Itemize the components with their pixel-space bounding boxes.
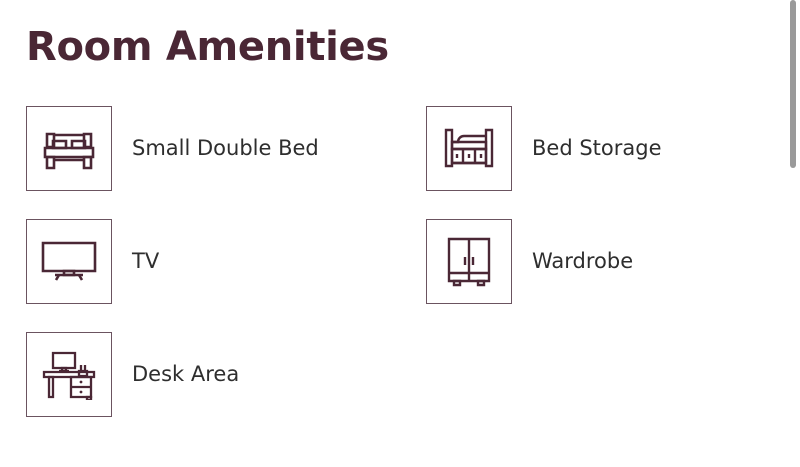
amenity-item-bed-storage[interactable]: Bed Storage (426, 92, 800, 205)
amenity-icon-box (26, 219, 112, 304)
page-title: Room Amenities (26, 26, 800, 68)
amenities-grid: Small Double Bed (26, 92, 786, 431)
vertical-scrollbar[interactable] (786, 0, 800, 467)
desk-icon (41, 350, 97, 400)
amenity-item-tv[interactable]: TV (26, 205, 426, 318)
amenity-label: Desk Area (132, 362, 239, 387)
wardrobe-icon (445, 236, 493, 288)
amenity-label: Small Double Bed (132, 136, 319, 161)
amenity-item-wardrobe[interactable]: Wardrobe (426, 205, 800, 318)
amenity-label: Wardrobe (532, 249, 633, 274)
amenity-label: Bed Storage (532, 136, 662, 161)
bed-storage-icon (442, 125, 496, 173)
amenity-icon-box (26, 106, 112, 191)
amenity-item-desk-area[interactable]: Desk Area (26, 318, 426, 431)
room-amenities-panel: Room Amenities (0, 0, 800, 467)
amenity-icon-box (26, 332, 112, 417)
tv-icon (40, 240, 98, 284)
amenity-item-small-double-bed[interactable]: Small Double Bed (26, 92, 426, 205)
amenity-icon-box (426, 219, 512, 304)
amenity-label: TV (132, 249, 159, 274)
scrollbar-thumb[interactable] (790, 0, 796, 168)
amenity-icon-box (426, 106, 512, 191)
bed-icon (41, 126, 97, 172)
